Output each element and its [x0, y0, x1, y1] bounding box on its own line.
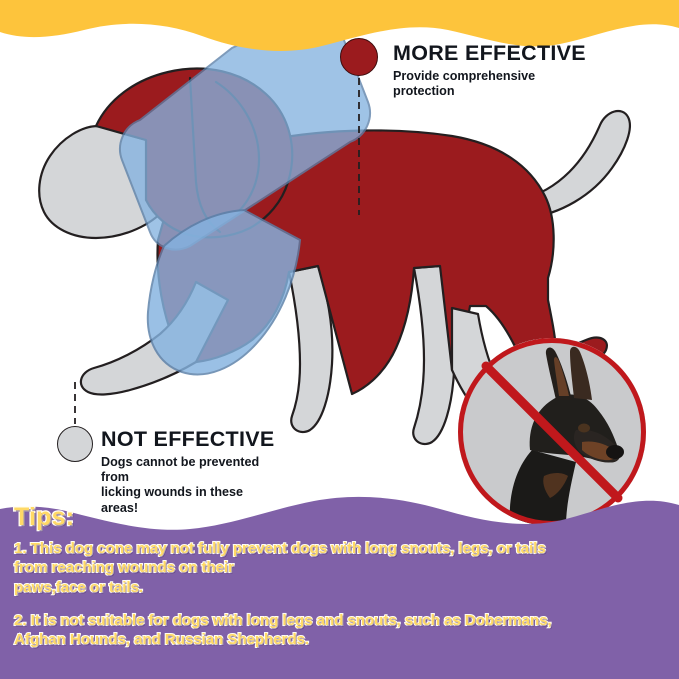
- tips-panel: Tips: 1. This dog cone may not fully pre…: [0, 489, 679, 679]
- infographic-page: MORE EFFECTIVE Provide comprehensive pro…: [0, 0, 679, 679]
- more-effective-title: MORE EFFECTIVE: [393, 42, 586, 65]
- tips-item-1: 1. This dog cone may not fully prevent d…: [14, 539, 669, 597]
- gray-dot-icon: [57, 426, 93, 462]
- not-effective-title: NOT EFFECTIVE: [101, 428, 275, 451]
- tips-spacer: [14, 598, 669, 611]
- red-dot-icon: [340, 38, 378, 76]
- tips-heading: Tips:: [14, 503, 669, 532]
- tips-item-2: 2. It is not suitable for dogs with long…: [14, 611, 669, 650]
- more-effective-subtitle: Provide comprehensive protection: [393, 69, 586, 100]
